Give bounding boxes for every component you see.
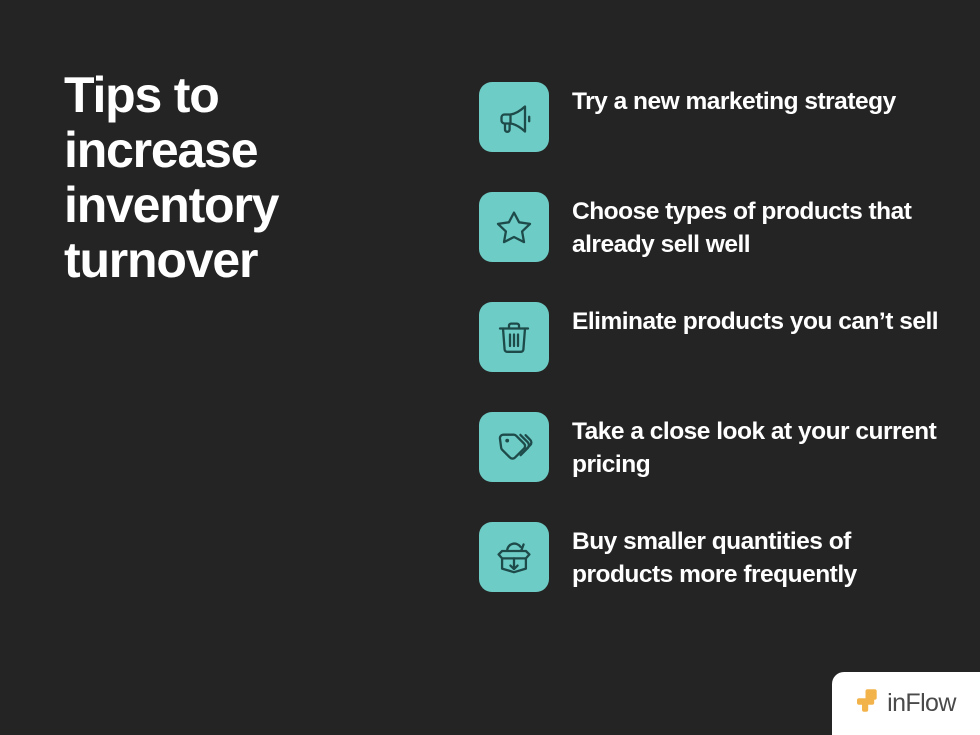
- tip-icon-tile: [479, 82, 549, 152]
- tips-list: Try a new marketing strategy Choose type…: [479, 82, 939, 592]
- list-item: Eliminate products you can’t sell: [479, 302, 939, 372]
- list-item-label: Try a new marketing strategy: [572, 82, 939, 118]
- list-item-label: Take a close look at your current pricin…: [572, 412, 939, 481]
- list-item-label: Choose types of products that already se…: [572, 192, 939, 261]
- tip-icon-tile: [479, 522, 549, 592]
- star-icon: [494, 207, 534, 247]
- inflow-logo[interactable]: inFlow: [832, 672, 980, 735]
- page-title: Tips to increase inventory turnover: [64, 68, 444, 288]
- tip-icon-tile: [479, 302, 549, 372]
- logo-inner: inFlow: [856, 686, 956, 721]
- trash-icon: [494, 317, 534, 357]
- inflow-logo-mark: [856, 686, 886, 721]
- list-item-label: Buy smaller quantities of products more …: [572, 522, 939, 591]
- logo-wordmark: inFlow: [887, 691, 956, 716]
- list-item: Choose types of products that already se…: [479, 192, 939, 262]
- list-item: Take a close look at your current pricin…: [479, 412, 939, 482]
- price-tags-icon: [494, 427, 534, 467]
- infographic-canvas: Tips to increase inventory turnover Try …: [0, 0, 980, 735]
- list-item: Buy smaller quantities of products more …: [479, 522, 939, 592]
- list-item-label: Eliminate products you can’t sell: [572, 302, 939, 338]
- tip-icon-tile: [479, 412, 549, 482]
- tip-icon-tile: [479, 192, 549, 262]
- megaphone-icon: [494, 97, 534, 137]
- list-item: Try a new marketing strategy: [479, 82, 939, 152]
- open-box-icon: [494, 537, 534, 577]
